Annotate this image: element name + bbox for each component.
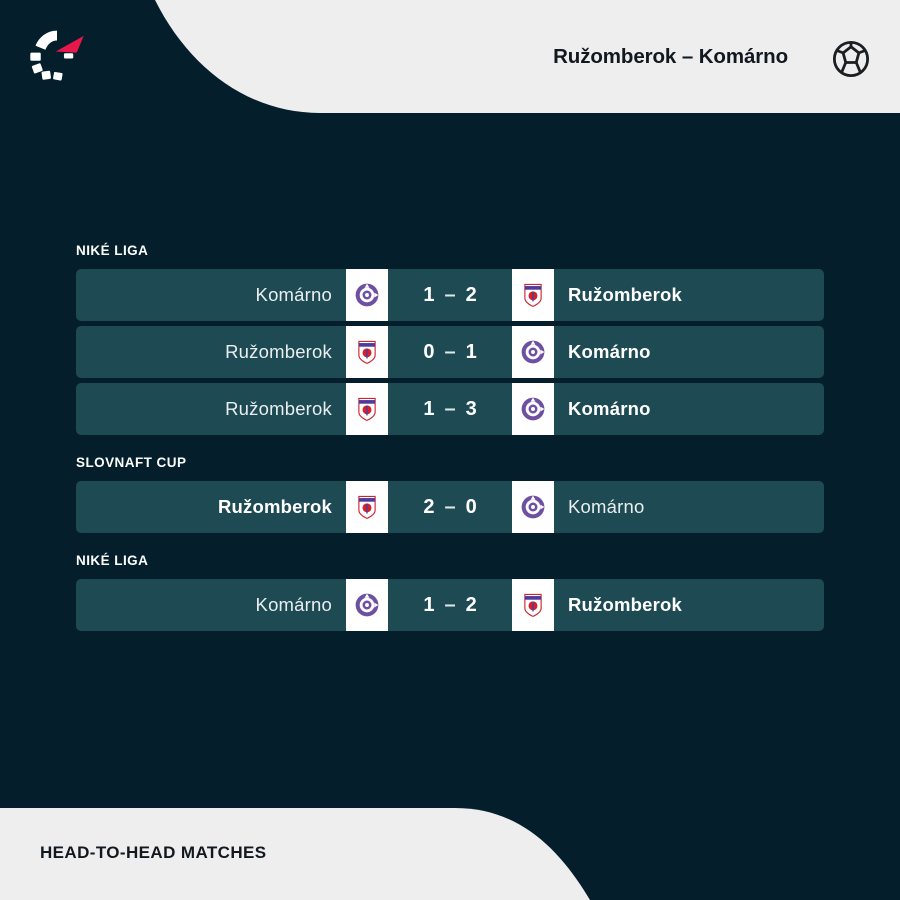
home-team[interactable]: Ružomberok [76,481,346,533]
app-header: Ružomberok – Komárno [0,0,900,115]
match-row[interactable]: Ružomberok 2 – 0 [76,481,824,533]
soccer-ball-icon [830,38,872,80]
komarno-crest-icon [512,383,554,435]
home-team[interactable]: Ružomberok [76,383,346,435]
home-score: 1 [423,398,434,421]
match-row[interactable]: Ružomberok 1 – 3 [76,383,824,435]
away-team[interactable]: Ružomberok [554,579,824,631]
section-title: SLOVNAFT CUP [76,455,824,470]
section-title: NIKÉ LIGA [76,243,824,258]
match-row[interactable]: Komárno 1 – 2 [76,579,824,631]
home-team[interactable]: Komárno [76,579,346,631]
head-to-head-content: NIKÉ LIGA Komárno 1 [0,115,900,805]
away-score: 2 [466,284,477,307]
score: 2 – 0 [388,481,512,533]
page-title: Ružomberok – Komárno [553,0,788,113]
home-score: 2 [423,496,434,519]
komarno-crest-icon [346,579,388,631]
score: 0 – 1 [388,326,512,378]
match-row[interactable]: Ružomberok 0 – 1 [76,326,824,378]
away-team-name: Ružomberok [554,594,682,616]
score-separator: – [444,398,455,421]
home-score: 0 [423,341,434,364]
app-footer: HEAD-TO-HEAD MATCHES [0,805,900,900]
footer-title: HEAD-TO-HEAD MATCHES [40,805,266,900]
ruzomberok-crest-icon [346,383,388,435]
home-team-name: Komárno [256,594,346,616]
ruzomberok-crest-icon [512,579,554,631]
away-team[interactable]: Ružomberok [554,269,824,321]
away-team[interactable]: Komárno [554,383,824,435]
away-score: 0 [466,496,477,519]
komarno-crest-icon [512,326,554,378]
score-separator: – [444,594,455,617]
home-team-name: Ružomberok [218,496,346,518]
home-team[interactable]: Komárno [76,269,346,321]
away-team[interactable]: Komárno [554,481,824,533]
komarno-crest-icon [512,481,554,533]
flashscore-logo[interactable] [28,26,86,84]
away-score: 1 [466,341,477,364]
away-team-name: Komárno [554,496,644,518]
score: 1 – 2 [388,269,512,321]
home-team-name: Ružomberok [225,341,346,363]
match-section: NIKÉ LIGA Komárno 1 [76,553,824,631]
score-separator: – [444,341,455,364]
score-separator: – [444,496,455,519]
away-team-name: Komárno [554,341,651,363]
home-team[interactable]: Ružomberok [76,326,346,378]
match-section: NIKÉ LIGA Komárno 1 [76,243,824,435]
ruzomberok-crest-icon [512,269,554,321]
score-separator: – [444,284,455,307]
ruzomberok-crest-icon [346,481,388,533]
home-score: 1 [423,284,434,307]
away-team-name: Komárno [554,398,651,420]
match-list: NIKÉ LIGA Komárno 1 [76,243,824,631]
home-team-name: Ružomberok [225,398,346,420]
match-section: SLOVNAFT CUP Ružomberok 2 – 0 [76,455,824,533]
home-team-name: Komárno [256,284,346,306]
away-score: 2 [466,594,477,617]
away-team[interactable]: Komárno [554,326,824,378]
score: 1 – 3 [388,383,512,435]
away-team-name: Ružomberok [554,284,682,306]
section-title: NIKÉ LIGA [76,553,824,568]
home-score: 1 [423,594,434,617]
komarno-crest-icon [346,269,388,321]
score: 1 – 2 [388,579,512,631]
away-score: 3 [466,398,477,421]
ruzomberok-crest-icon [346,326,388,378]
match-row[interactable]: Komárno 1 – 2 [76,269,824,321]
